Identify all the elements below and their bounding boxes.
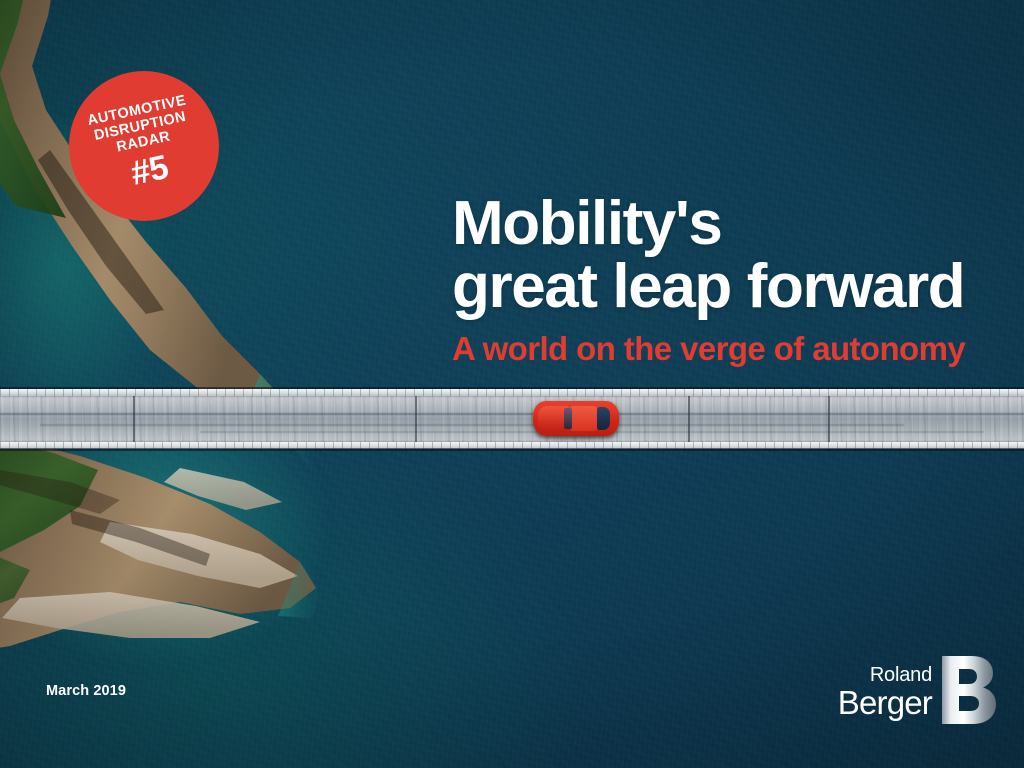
bridge-deck-texture [0,393,1024,445]
roland-berger-logo: Roland Berger [838,650,996,726]
bridge [0,387,1024,451]
rail-posts [0,389,1024,396]
deck-streak [40,424,904,426]
publication-date: March 2019 [46,683,126,699]
red-car [533,401,619,436]
deck-streak [0,413,1024,415]
bridge-deck [0,393,1024,445]
automotive-disruption-radar-badge: AUTOMOTIVE DISRUPTION RADAR #5 [69,71,219,221]
title-line-1: Mobility's [452,192,1000,255]
logo-b-mark-icon [940,654,996,726]
bridge-expansion-joint [415,393,417,445]
car-roof [570,406,597,431]
bridge-edge-shadow-bottom [0,448,1024,451]
page-subtitle: A world on the verge of autonomy [452,330,1000,368]
car-rear-window [597,407,610,430]
report-cover-slide: AUTOMOTIVE DISRUPTION RADAR #5 Mobility'… [0,0,1024,768]
bridge-expansion-joint [828,393,830,445]
logo-berger-text: Berger [838,686,932,720]
page-title: Mobility's great leap forward [452,192,1000,318]
logo-roland-text: Roland [838,665,932,685]
title-line-2: great leap forward [452,255,1000,318]
car-windshield [564,408,572,429]
bridge-rail-top [0,389,1024,396]
logo-wordmark: Roland Berger [838,665,932,726]
bridge-expansion-joint [688,393,690,445]
headline-block: Mobility's great leap forward A world on… [452,192,1000,368]
badge-text-block: AUTOMOTIVE DISRUPTION RADAR #5 [86,93,202,199]
bridge-expansion-joint [133,393,135,445]
